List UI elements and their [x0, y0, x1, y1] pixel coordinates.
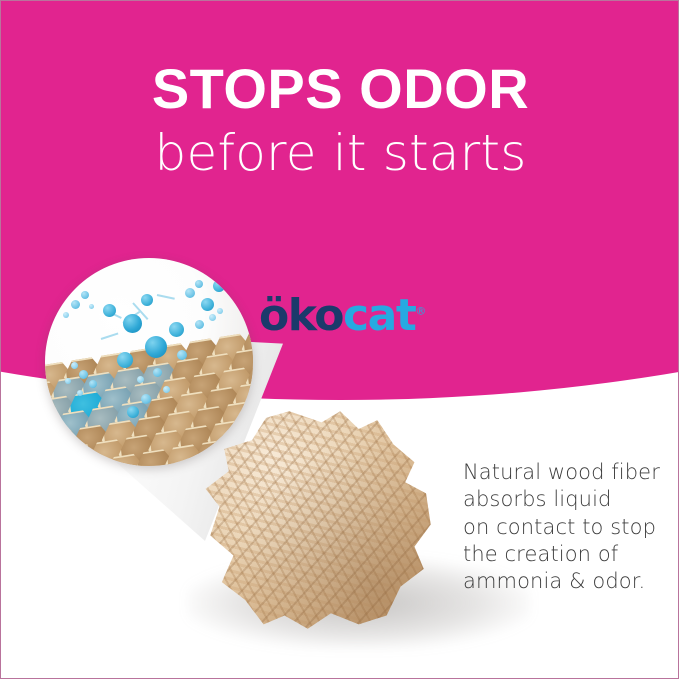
- headline-block: STOPS ODOR before it starts: [1, 61, 679, 180]
- ad-canvas: STOPS ODOR before it starts: [0, 0, 679, 679]
- brand-logo: ökocat®: [259, 294, 426, 338]
- trademark-symbol: ®: [415, 304, 426, 317]
- logo-text-cat: cat: [343, 290, 415, 341]
- logo-text-oko: öko: [259, 290, 343, 341]
- magnifier-circle: [45, 258, 253, 466]
- body-copy-text: Natural wood fiber absorbs liquid on con…: [463, 459, 660, 595]
- page-subtitle: before it starts: [1, 127, 679, 180]
- page-title: STOPS ODOR: [1, 61, 679, 117]
- magnifier-contents: [45, 258, 253, 466]
